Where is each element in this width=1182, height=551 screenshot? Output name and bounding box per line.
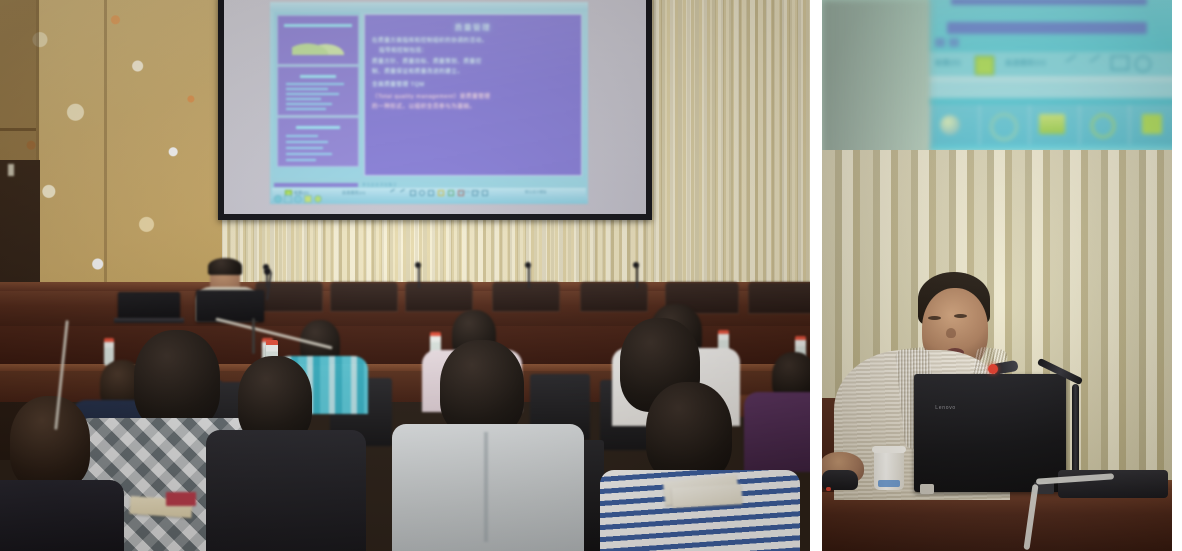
paper-cup-rim bbox=[872, 446, 906, 453]
microphone-head bbox=[633, 262, 639, 268]
speaker-laptop: Lenovo bbox=[914, 374, 1066, 492]
paper-cup-stripe bbox=[878, 480, 900, 487]
microphone-head bbox=[525, 262, 531, 268]
taskbar-cell[interactable] bbox=[1129, 105, 1172, 145]
cable bbox=[252, 318, 255, 354]
microphone-head bbox=[415, 262, 421, 268]
microphone-stand bbox=[528, 266, 530, 288]
thumbnail-text-line bbox=[286, 103, 332, 105]
blank-strip bbox=[929, 76, 1172, 98]
presenter-hair bbox=[208, 258, 242, 275]
design-template-label: 默认设计模板 bbox=[525, 190, 547, 195]
slide-thumbnail-1[interactable] bbox=[277, 15, 359, 65]
photo-composite: 质量管理 在质量方面指挥和控制组织的协调的活动。 指导和控制包括： 质量方针、质… bbox=[0, 0, 1182, 551]
slide-line-7: 的一种形式，以组织全员参与为基础。 bbox=[372, 103, 574, 112]
windows-taskbar[interactable] bbox=[929, 105, 1172, 145]
select-objects-icon[interactable] bbox=[975, 56, 994, 75]
internet-explorer-icon[interactable] bbox=[990, 113, 1018, 141]
marble-seam-horizontal bbox=[0, 128, 36, 131]
toolbar-button[interactable] bbox=[949, 38, 959, 47]
slide-line-2: 指导和控制包括： bbox=[372, 47, 574, 56]
thumbnail-title-bar bbox=[296, 126, 341, 129]
start-button-icon[interactable] bbox=[274, 195, 282, 203]
slide-line-5: 全面质量管理 TQM bbox=[372, 81, 574, 90]
internet-explorer-icon[interactable] bbox=[294, 195, 302, 203]
head-table-chair bbox=[492, 282, 560, 312]
toolbar-button[interactable] bbox=[935, 38, 945, 47]
slide-thumbnail-pane[interactable] bbox=[274, 12, 360, 178]
laptop-latch bbox=[920, 484, 934, 494]
line-tool-icon[interactable] bbox=[390, 189, 395, 192]
speaker-closeup-photo: 绘图(D) 自选图形(U) bbox=[822, 0, 1172, 551]
slide-counter: 幻灯片 3 / 41 bbox=[460, 190, 481, 195]
thumbnail-text-line bbox=[286, 147, 323, 149]
slide-editing-area[interactable]: 质量管理 在质量方面指挥和控制组织的协调的活动。 指导和控制包括： 质量方针、质… bbox=[364, 14, 582, 176]
slide-line-6: （Total quality management）是质量管理 bbox=[372, 93, 574, 102]
thumbnail-text-line bbox=[286, 141, 328, 143]
lecture-hall-wide-photo: 质量管理 在质量方面指挥和控制组织的协调的活动。 指导和控制包括： 质量方针、质… bbox=[0, 0, 810, 551]
thumbnail-title-bar bbox=[284, 24, 351, 27]
audience-body-front-dark bbox=[206, 430, 366, 551]
selected-text-highlight bbox=[947, 22, 1147, 34]
thumbnail-pane-scrollbar[interactable] bbox=[274, 183, 358, 187]
handout-papers bbox=[672, 484, 743, 508]
projection-screen-surface: 质量管理 在质量方面指挥和控制组织的协调的活动。 指导和控制包括： 质量方针、质… bbox=[224, 0, 646, 214]
head-table-chair bbox=[405, 282, 473, 312]
audience-head-grey-shirt bbox=[440, 340, 524, 436]
thumbnail-text-line bbox=[286, 93, 339, 95]
second-laptop-base bbox=[114, 318, 184, 323]
slide-thumbnail-2[interactable] bbox=[277, 66, 359, 116]
arrow-tool-icon[interactable] bbox=[400, 189, 405, 192]
media-player-icon[interactable] bbox=[284, 195, 292, 203]
slide-title: 质量管理 bbox=[365, 22, 581, 33]
thumbnail-text-line bbox=[286, 98, 321, 100]
play-icon[interactable] bbox=[314, 195, 322, 203]
microphone-stand bbox=[636, 266, 638, 288]
light-switch bbox=[8, 164, 14, 176]
audience-body-grey-shirt bbox=[392, 424, 584, 551]
taskbar-cell[interactable] bbox=[1079, 105, 1130, 145]
autoshapes-menu-label[interactable]: 自选图形(U) bbox=[342, 190, 366, 196]
thumbnail-text-line bbox=[286, 153, 332, 155]
rectangle-tool-icon[interactable] bbox=[1111, 56, 1129, 70]
audience-head-grey-check bbox=[134, 330, 220, 430]
head-table-chair bbox=[330, 282, 398, 312]
marble-seam-vertical-2 bbox=[104, 0, 107, 330]
speaker-nose bbox=[946, 328, 956, 338]
speaker-eye bbox=[928, 316, 941, 320]
microphone-stand bbox=[418, 266, 420, 288]
play-icon[interactable] bbox=[1091, 114, 1115, 138]
powerpoint-window: 质量管理 在质量方面指挥和控制组织的协调的活动。 指导和控制包括： 质量方针、质… bbox=[270, 2, 588, 204]
thumbnail-image bbox=[292, 35, 343, 55]
taskbar-cell[interactable] bbox=[979, 105, 1030, 145]
folder-icon[interactable] bbox=[304, 195, 312, 203]
taskbar-cell[interactable] bbox=[929, 105, 980, 145]
microphone-led bbox=[988, 364, 998, 374]
powerpoint-menubar bbox=[270, 2, 588, 11]
media-player-icon[interactable] bbox=[940, 115, 960, 135]
folder-icon[interactable] bbox=[1039, 114, 1065, 134]
audience-head-left-edge bbox=[10, 396, 90, 490]
thumbnail-text-line bbox=[286, 88, 328, 90]
red-document bbox=[166, 492, 196, 506]
autoshapes-menu-label[interactable]: 自选图形(U) bbox=[1005, 58, 1046, 68]
audience-body-purple-shirt bbox=[744, 392, 810, 472]
mouse-led bbox=[826, 487, 831, 491]
thumbnail-title-bar bbox=[300, 75, 335, 78]
head-table-chair bbox=[748, 282, 810, 314]
audience-head-blue-stripe bbox=[646, 382, 732, 482]
draw-menu-label[interactable]: 绘图(D) bbox=[935, 58, 961, 68]
second-laptop bbox=[118, 292, 180, 320]
speaker-eye bbox=[954, 314, 967, 318]
thumbnail-text-line bbox=[286, 108, 326, 110]
title-bar-highlight bbox=[951, 0, 1147, 5]
projection-screen: 质量管理 在质量方面指挥和控制组织的协调的活动。 指导和控制包括： 质量方针、质… bbox=[218, 0, 652, 220]
slide-thumbnail-3[interactable] bbox=[277, 117, 359, 167]
slide-line-4: 制、质量保证和质量改进的建立。 bbox=[372, 68, 574, 77]
thumbnail-text-line bbox=[286, 83, 344, 85]
slide-body-text: 在质量方面指挥和控制组织的协调的活动。 指导和控制包括： 质量方针、质量目标、质… bbox=[372, 37, 574, 114]
slide-line-1: 在质量方面指挥和控制组织的协调的活动。 bbox=[372, 37, 574, 46]
shirt-placket bbox=[484, 432, 488, 542]
projected-powerpoint: 绘图(D) 自选图形(U) bbox=[929, 0, 1172, 151]
thumbnail-text-line bbox=[286, 159, 316, 161]
oval-tool-icon[interactable] bbox=[1135, 56, 1151, 72]
presenter-microphone-head bbox=[264, 268, 271, 275]
laptop-brand-label: Lenovo bbox=[935, 405, 956, 411]
thumbnail-text-line bbox=[286, 135, 318, 137]
taskbar-cell[interactable] bbox=[1029, 105, 1080, 145]
app-icon[interactable] bbox=[1142, 114, 1162, 134]
windows-taskbar[interactable] bbox=[270, 196, 588, 204]
slide-line-3: 质量方针、质量目标、质量策划、质量控 bbox=[372, 58, 574, 67]
audience-body-left-edge bbox=[0, 480, 124, 551]
